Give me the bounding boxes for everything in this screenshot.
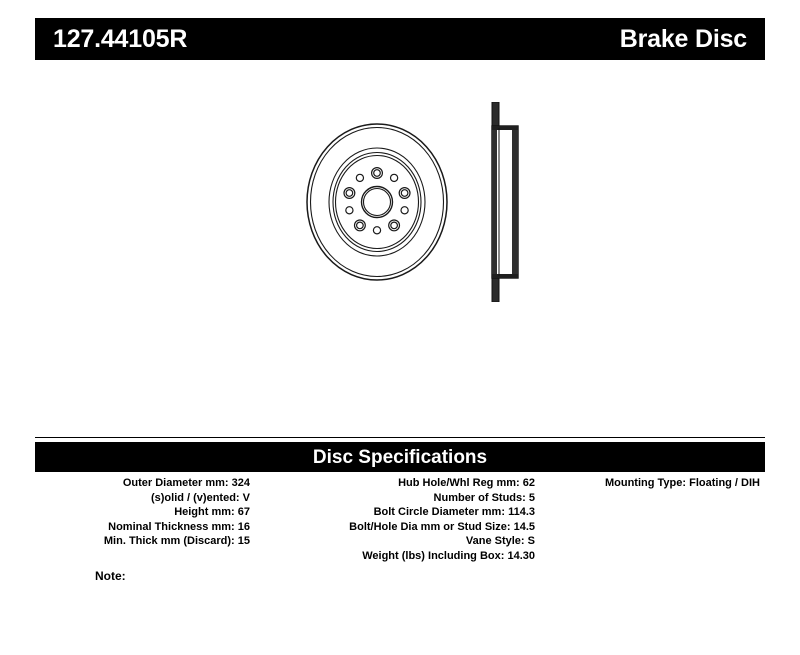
technical-drawing bbox=[35, 70, 765, 420]
brake-rotor-face-view bbox=[300, 102, 480, 302]
spec-value: 15 bbox=[238, 535, 250, 547]
specifications-columns: Outer Diameter mm: 324 (s)olid / (v)ente… bbox=[35, 476, 765, 563]
lightening-hole bbox=[391, 174, 398, 181]
spec-label: Vane Style: bbox=[466, 535, 525, 547]
lightening-hole bbox=[401, 207, 408, 214]
lightening-hole bbox=[346, 207, 353, 214]
spec-value: 14.5 bbox=[514, 521, 535, 533]
spec-value: V bbox=[243, 492, 250, 504]
spec-label: Outer Diameter mm: bbox=[123, 477, 229, 489]
brake-rotor-cross-section-view bbox=[455, 102, 525, 302]
spec-column-left: Outer Diameter mm: 324 (s)olid / (v)ente… bbox=[35, 476, 250, 549]
header-bar: 127.44105R Brake Disc bbox=[35, 18, 765, 60]
spec-row: Mounting Type: Floating / DIH bbox=[535, 476, 760, 491]
stud-hole bbox=[389, 220, 400, 231]
spec-row: Nominal Thickness mm: 16 bbox=[35, 520, 250, 535]
spec-column-middle: Hub Hole/Whl Reg mm: 62 Number of Studs:… bbox=[250, 476, 535, 563]
stud-hole bbox=[344, 188, 355, 199]
spec-value: 62 bbox=[523, 477, 535, 489]
spec-label: Bolt Circle Diameter mm: bbox=[374, 506, 505, 518]
spec-row: Bolt Circle Diameter mm: 114.3 bbox=[250, 505, 535, 520]
spec-label: Number of Studs: bbox=[434, 492, 526, 504]
spec-label: Nominal Thickness mm: bbox=[108, 521, 235, 533]
specifications-header-bar: Disc Specifications bbox=[35, 442, 765, 472]
spec-label: Weight (lbs) Including Box: bbox=[362, 550, 504, 562]
stud-hole bbox=[372, 168, 383, 179]
spec-value: S bbox=[528, 535, 535, 547]
lightening-hole bbox=[356, 174, 363, 181]
section-divider bbox=[35, 437, 765, 438]
spec-value: Floating / DIH bbox=[689, 477, 760, 489]
spec-label: (s)olid / (v)ented: bbox=[151, 492, 240, 504]
spec-label: Bolt/Hole Dia mm or Stud Size: bbox=[349, 521, 510, 533]
spec-column-right: Mounting Type: Floating / DIH bbox=[535, 476, 765, 491]
spec-value: 14.30 bbox=[507, 550, 535, 562]
spec-row: Height mm: 67 bbox=[35, 505, 250, 520]
product-type: Brake Disc bbox=[620, 27, 747, 52]
spec-row: Weight (lbs) Including Box: 14.30 bbox=[250, 549, 535, 564]
spec-value: 324 bbox=[232, 477, 250, 489]
spec-value: 5 bbox=[529, 492, 535, 504]
spec-value: 67 bbox=[238, 506, 250, 518]
spec-row: Number of Studs: 5 bbox=[250, 491, 535, 506]
spec-row: Hub Hole/Whl Reg mm: 62 bbox=[250, 476, 535, 491]
spec-label: Min. Thick mm (Discard): bbox=[104, 535, 235, 547]
part-number: 127.44105R bbox=[53, 27, 187, 52]
spec-row: Bolt/Hole Dia mm or Stud Size: 14.5 bbox=[250, 520, 535, 535]
spec-value: 16 bbox=[238, 521, 250, 533]
spec-sheet: 127.44105R Brake Disc bbox=[35, 0, 765, 655]
spec-label: Height mm: bbox=[174, 506, 235, 518]
spec-row: Min. Thick mm (Discard): 15 bbox=[35, 534, 250, 549]
stud-hole bbox=[399, 188, 410, 199]
note-label: Note: bbox=[95, 570, 126, 582]
spec-row: Vane Style: S bbox=[250, 534, 535, 549]
lightening-hole bbox=[373, 227, 380, 234]
spec-row: Outer Diameter mm: 324 bbox=[35, 476, 250, 491]
spec-value: 114.3 bbox=[508, 506, 535, 518]
specifications-title: Disc Specifications bbox=[313, 448, 487, 467]
spec-label: Mounting Type: bbox=[605, 477, 686, 489]
spec-row: (s)olid / (v)ented: V bbox=[35, 491, 250, 506]
spec-label: Hub Hole/Whl Reg mm: bbox=[398, 477, 520, 489]
stud-hole bbox=[355, 220, 366, 231]
